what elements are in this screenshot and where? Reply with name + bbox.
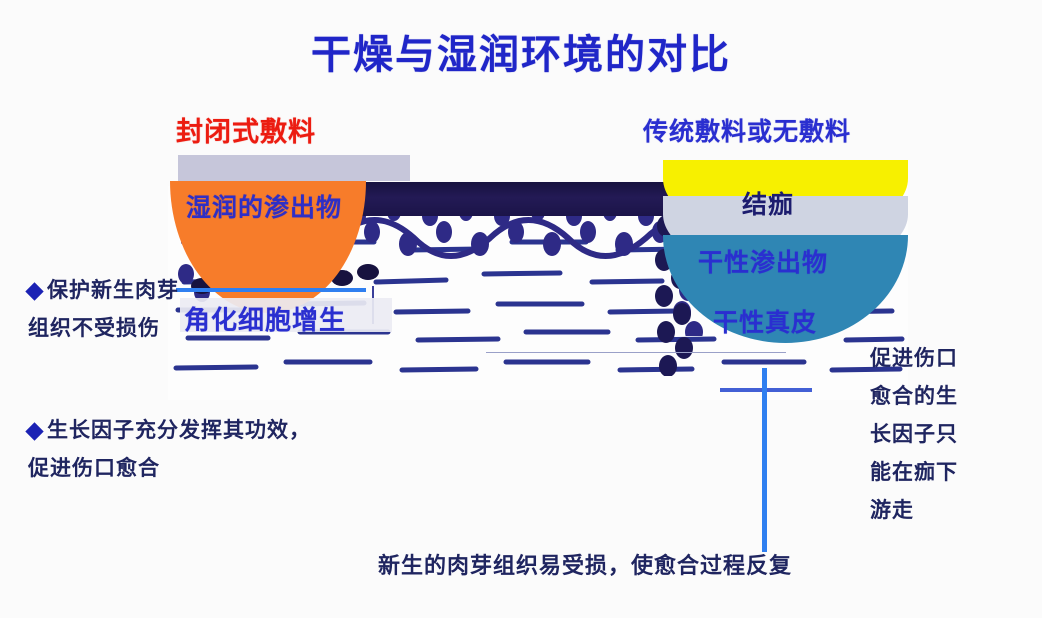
diamond-bullet-icon	[25, 282, 43, 300]
left-bullet-1-text: 保护新生肉芽组织不受损伤	[28, 279, 179, 340]
right-note-line: 促进伤口	[870, 340, 980, 378]
left-panel-heading: 封闭式敷料	[176, 110, 316, 149]
dry-exudate-label: 干性渗出物	[698, 243, 828, 279]
right-note-line: 游走	[870, 492, 980, 530]
diamond-bullet-icon	[25, 422, 43, 440]
moist-exudate-label: 湿润的渗出物	[186, 188, 396, 224]
right-note-line: 能在痂下	[870, 454, 980, 492]
right-panel-heading: 传统敷料或无敷料	[643, 112, 851, 148]
left-bullet-2: 生长因子充分发挥其功效，促进伤口愈合	[28, 412, 328, 488]
dressing-gray-band	[178, 155, 410, 181]
right-note-line: 愈合的生	[870, 378, 980, 416]
scab-label: 结痂	[742, 185, 794, 221]
right-panel-note: 促进伤口 愈合的生 长因子只 能在痂下 游走	[870, 340, 980, 530]
left-bullet-1: 保护新生肉芽组织不受损伤	[28, 272, 198, 348]
keratinocyte-label: 角化细胞增生	[184, 300, 346, 337]
pointer-line-vertical	[762, 368, 767, 552]
dry-dermis-label: 干性真皮	[713, 303, 817, 339]
right-note-line: 长因子只	[870, 416, 980, 454]
left-bullet-2-text: 生长因子充分发挥其功效，促进伤口愈合	[28, 419, 311, 480]
leader-line-left	[176, 288, 366, 292]
bottom-caption: 新生的肉芽组织易受损，使愈合过程反复	[378, 548, 792, 580]
leader-line-thin	[486, 352, 786, 353]
diagram-canvas: 干燥与湿润环境的对比 封闭式敷料 传统敷料或无敷料 湿润的渗出物 角化细胞增生 …	[0, 0, 1042, 618]
page-title: 干燥与湿润环境的对比	[0, 22, 1042, 80]
